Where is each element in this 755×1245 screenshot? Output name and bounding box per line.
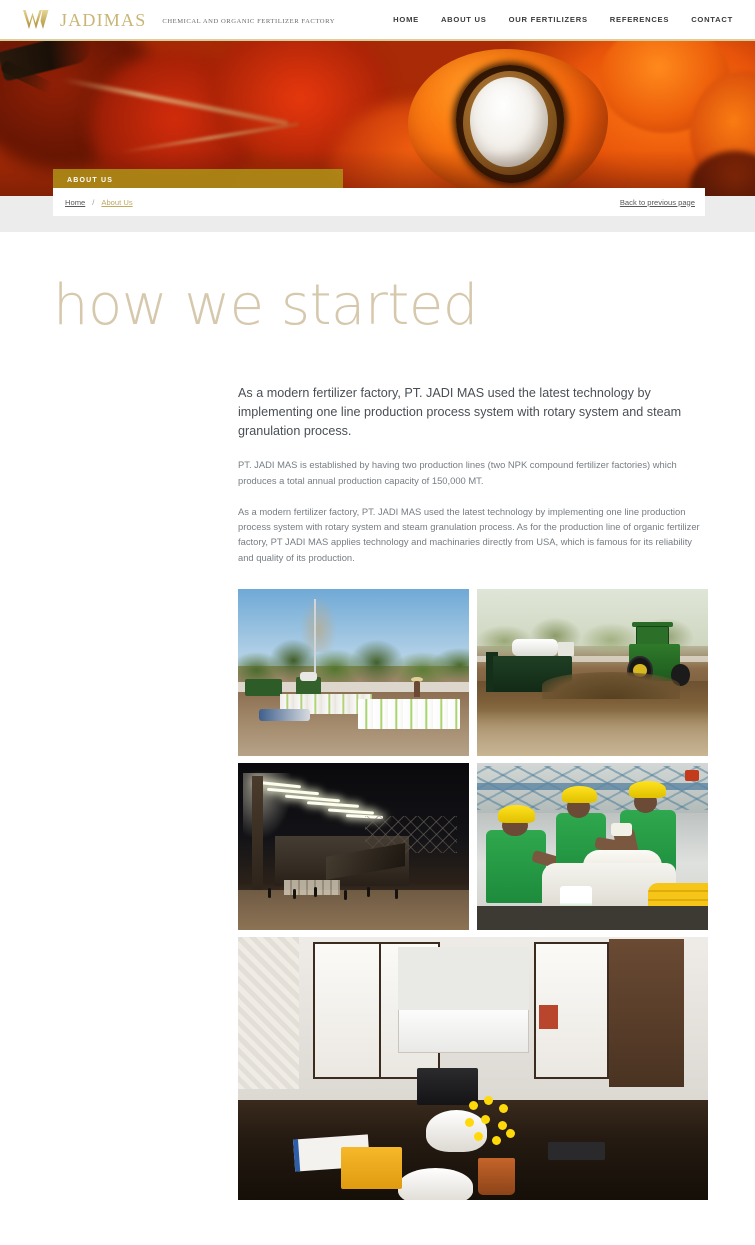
breadcrumb-strip: Home / About Us Back to previous page — [0, 196, 755, 232]
photo-gallery — [238, 589, 708, 1200]
body-paragraph-2: As a modern fertilizer factory, PT. JADI… — [238, 504, 708, 565]
page-title: how we started — [0, 232, 755, 334]
article-text-column: As a modern fertilizer factory, PT. JADI… — [238, 334, 708, 565]
crown-w-logo-icon — [22, 8, 52, 32]
yellow-flowers — [459, 1095, 534, 1174]
breadcrumb-item-about-us[interactable]: About Us — [101, 198, 132, 207]
breadcrumb-separator: / — [92, 198, 94, 207]
gallery-row — [238, 763, 708, 930]
gallery-photo-workers-bagging[interactable] — [477, 763, 708, 930]
nav-item-home[interactable]: HOME — [393, 15, 419, 24]
brand-logo[interactable]: JADIMAS CHEMICAL AND ORGANIC FERTILIZER … — [0, 8, 335, 32]
lead-paragraph: As a modern fertilizer factory, PT. JADI… — [238, 384, 708, 441]
breadcrumb: Home / About Us Back to previous page — [53, 188, 705, 216]
back-to-previous-page-link[interactable]: Back to previous page — [620, 198, 695, 207]
gallery-row — [238, 937, 708, 1200]
brand-name: JADIMAS — [60, 11, 146, 29]
nav-item-references[interactable]: REFERENCES — [610, 15, 669, 24]
gallery-photo-bags-in-field[interactable] — [238, 589, 469, 756]
gallery-photo-factory-interior[interactable] — [238, 763, 469, 930]
hero-eyebrow: ABOUT US — [67, 177, 329, 184]
site-header: JADIMAS CHEMICAL AND ORGANIC FERTILIZER … — [0, 0, 755, 41]
factory-workers — [238, 883, 469, 903]
breadcrumb-item-home[interactable]: Home — [65, 198, 85, 207]
main-navigation[interactable]: HOME ABOUT US OUR FERTILIZERS REFERENCES… — [393, 15, 755, 24]
gallery-photo-staff-meeting[interactable] — [238, 937, 708, 1200]
nav-item-about-us[interactable]: ABOUT US — [441, 15, 487, 24]
body-paragraph-1: PT. JADI MAS is established by having tw… — [238, 457, 708, 487]
gallery-photo-tractor-compost[interactable] — [477, 589, 708, 756]
nav-item-contact[interactable]: CONTACT — [691, 15, 733, 24]
main-content: how we started As a modern fertilizer fa… — [0, 232, 755, 1237]
hero-banner: ABOUT US Fertilizing the world, an acre … — [0, 41, 755, 196]
brand-tagline: CHEMICAL AND ORGANIC FERTILIZER FACTORY — [162, 15, 335, 25]
gallery-row — [238, 589, 708, 756]
nav-item-our-fertilizers[interactable]: OUR FERTILIZERS — [509, 15, 588, 24]
